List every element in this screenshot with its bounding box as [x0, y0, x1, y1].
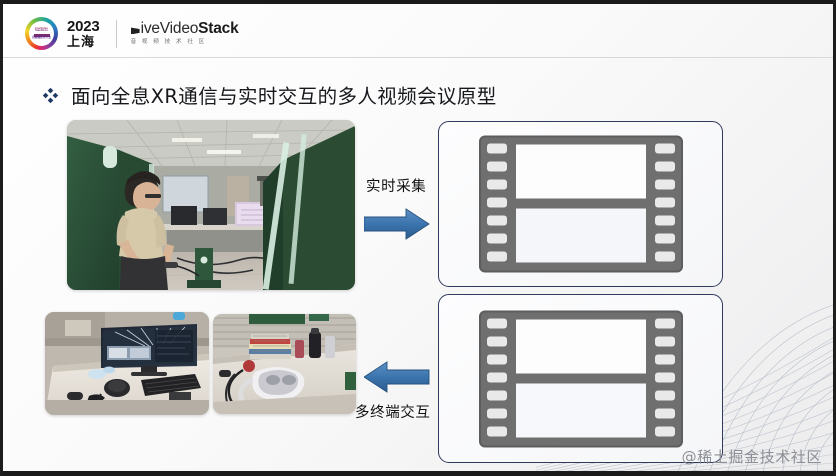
film-strip-icon	[478, 309, 684, 448]
panel-capture-stream	[438, 121, 723, 287]
livevideostack-ring-logo-icon: LiveVideo StackCon 音视频技术大会	[25, 17, 58, 50]
brand-play-mark-icon	[131, 27, 140, 34]
watermark: @稀土掘金技术社区	[682, 446, 822, 467]
conference-year-city: 2023 上海	[67, 19, 100, 48]
photo-green-screen-capture-room	[67, 120, 355, 290]
logo-ring-line2: StackCon	[35, 30, 48, 33]
arrow-right-icon	[364, 207, 430, 241]
interaction-label: 多终端交互	[355, 401, 431, 422]
conference-logo: LiveVideo StackCon 音视频技术大会 2023 上海 iveVi…	[25, 17, 239, 50]
page-title: 面向全息XR通信与实时交互的多人视频会议原型	[71, 80, 497, 109]
slide-title-row: 面向全息XR通信与实时交互的多人视频会议原型	[42, 80, 497, 109]
conference-city: 上海	[67, 35, 100, 48]
panel-interaction-stream	[438, 294, 723, 463]
header-divider	[3, 57, 833, 58]
logo-ring-line3: 音视频技术大会	[32, 37, 51, 40]
logo-divider	[116, 20, 117, 48]
slide-canvas: LiveVideo StackCon 音视频技术大会 2023 上海 iveVi…	[0, 0, 836, 476]
slide-header: LiveVideo StackCon 音视频技术大会 2023 上海 iveVi…	[3, 4, 833, 57]
brand-name-light: iveVideo	[141, 20, 199, 37]
slide-bottom-border	[0, 471, 836, 476]
arrow-left-icon	[364, 360, 430, 394]
photo-vr-headset-desk	[213, 314, 356, 414]
slide-left-border	[0, 0, 3, 476]
photo-desktop-workstation	[45, 312, 209, 415]
conference-year: 2023	[67, 19, 100, 34]
film-strip-icon	[478, 135, 684, 274]
brand-lockup: iveVideoStack 音 视 频 技 术 社 区	[131, 21, 239, 45]
brand-tagline: 音 视 频 技 术 社 区	[131, 40, 239, 46]
capture-label: 实时采集	[366, 175, 426, 196]
brand-name-bold: Stack	[198, 20, 238, 37]
diamond-cluster-bullet-icon	[42, 87, 59, 104]
